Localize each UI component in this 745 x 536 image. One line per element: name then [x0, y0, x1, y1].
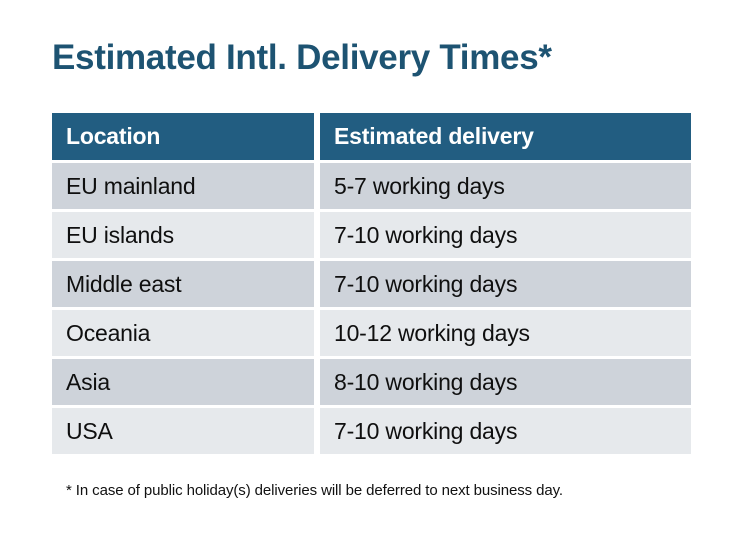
table-cell-estimated-delivery: 7-10 working days	[320, 261, 691, 307]
table-cell-location: Oceania	[52, 310, 314, 356]
table-header-cell-estimated-delivery: Estimated delivery	[320, 113, 691, 160]
table-cell-estimated-delivery-text: 7-10 working days	[334, 222, 517, 249]
page-title: Estimated Intl. Delivery Times*	[52, 36, 552, 80]
table-cell-location: EU mainland	[52, 163, 314, 209]
table-cell-location-text: EU islands	[66, 222, 174, 249]
table-cell-estimated-delivery: 10-12 working days	[320, 310, 691, 356]
table-cell-estimated-delivery: 7-10 working days	[320, 212, 691, 258]
table-header-row: Location Estimated delivery	[52, 113, 691, 160]
table-header-label-estimated-delivery: Estimated delivery	[334, 123, 534, 150]
table-cell-estimated-delivery-text: 8-10 working days	[334, 369, 517, 396]
table-cell-location: EU islands	[52, 212, 314, 258]
table-cell-estimated-delivery-text: 10-12 working days	[334, 320, 530, 347]
table-cell-location-text: EU mainland	[66, 173, 195, 200]
table-cell-location-text: Oceania	[66, 320, 150, 347]
table-cell-location-text: Middle east	[66, 271, 181, 298]
table-cell-location-text: Asia	[66, 369, 110, 396]
table-cell-estimated-delivery-text: 7-10 working days	[334, 271, 517, 298]
table-cell-estimated-delivery: 7-10 working days	[320, 408, 691, 454]
delivery-times-page: Estimated Intl. Delivery Times* Location…	[0, 0, 745, 536]
table-cell-estimated-delivery: 8-10 working days	[320, 359, 691, 405]
delivery-times-table: Location Estimated delivery EU mainland …	[52, 113, 691, 454]
table-cell-location: USA	[52, 408, 314, 454]
table-cell-estimated-delivery-text: 5-7 working days	[334, 173, 505, 200]
table-header-label-location: Location	[66, 123, 160, 150]
table-cell-location: Middle east	[52, 261, 314, 307]
table-row: EU islands 7-10 working days	[52, 212, 691, 258]
table-cell-location-text: USA	[66, 418, 113, 445]
table-cell-estimated-delivery: 5-7 working days	[320, 163, 691, 209]
table-header-cell-location: Location	[52, 113, 314, 160]
footnote-text: * In case of public holiday(s) deliverie…	[66, 481, 563, 501]
table-cell-estimated-delivery-text: 7-10 working days	[334, 418, 517, 445]
table-row: Middle east 7-10 working days	[52, 261, 691, 307]
table-row: EU mainland 5-7 working days	[52, 163, 691, 209]
table-row: Oceania 10-12 working days	[52, 310, 691, 356]
table-cell-location: Asia	[52, 359, 314, 405]
table-row: USA 7-10 working days	[52, 408, 691, 454]
table-row: Asia 8-10 working days	[52, 359, 691, 405]
